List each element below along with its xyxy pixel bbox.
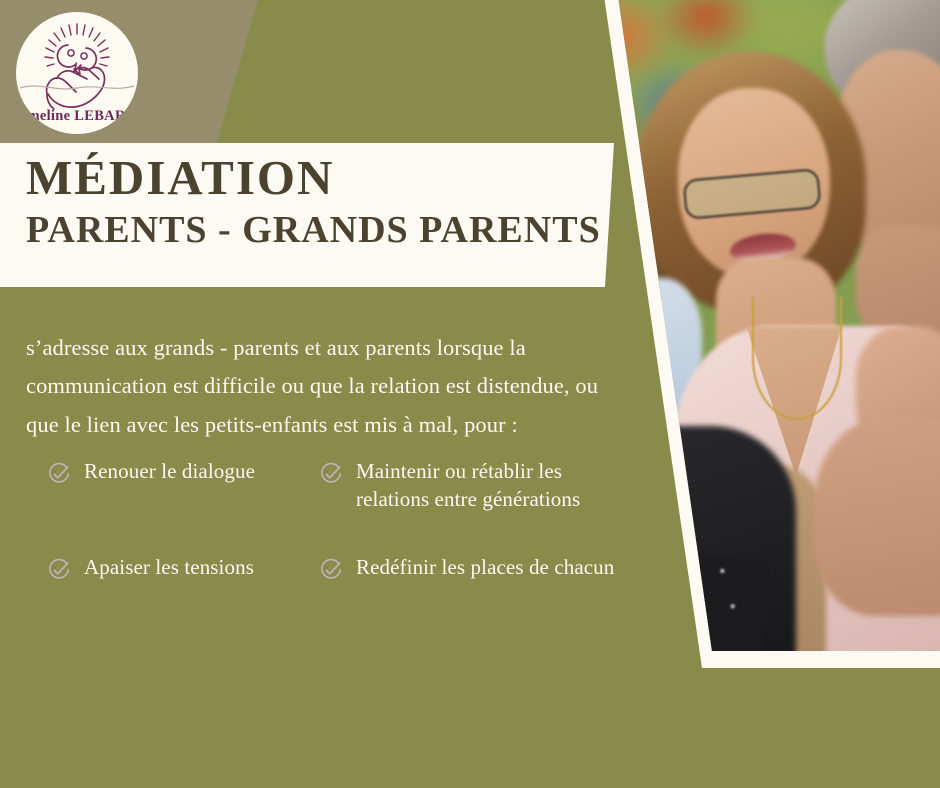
benefits-list: Renouer le dialogue Maintenir ou rétabli…	[48, 458, 638, 582]
list-item-label: Maintenir ou rétablir les relations entr…	[356, 458, 638, 514]
list-row: Apaiser les tensions Redéfinir les place…	[48, 554, 638, 582]
list-item-label: Redéfinir les places de chacun	[356, 554, 614, 582]
list-row: Renouer le dialogue Maintenir ou rétabli…	[48, 458, 638, 514]
list-item: Maintenir ou rétablir les relations entr…	[320, 458, 638, 514]
brand-logo: Emeline LEBARD	[16, 12, 138, 134]
list-item-label: Renouer le dialogue	[84, 458, 255, 486]
check-circle-icon	[48, 559, 70, 581]
check-circle-icon	[320, 559, 342, 581]
list-item-label: Apaiser les tensions	[84, 554, 254, 582]
list-item: Renouer le dialogue	[48, 458, 320, 486]
page-subtitle: PARENTS - GRANDS PARENTS	[26, 208, 606, 253]
title-block: MÉDIATION PARENTS - GRANDS PARENTS	[26, 151, 606, 253]
page-title: MÉDIATION	[26, 151, 606, 206]
intro-paragraph: s’adresse aux grands - parents et aux pa…	[26, 329, 634, 445]
list-item: Apaiser les tensions	[48, 554, 320, 582]
check-circle-icon	[320, 463, 342, 485]
photo-woman-necklace	[752, 296, 842, 420]
poster-canvas: Emeline LEBARD MÉDIATION PARENTS - GRAND…	[0, 0, 940, 788]
photo-man-arm	[814, 416, 940, 616]
sun-faces-in-hand-logo-icon: Emeline LEBARD	[16, 12, 138, 134]
title-band: MÉDIATION PARENTS - GRANDS PARENTS	[0, 143, 614, 287]
check-circle-icon	[48, 463, 70, 485]
list-item: Redéfinir les places de chacun	[320, 554, 638, 582]
